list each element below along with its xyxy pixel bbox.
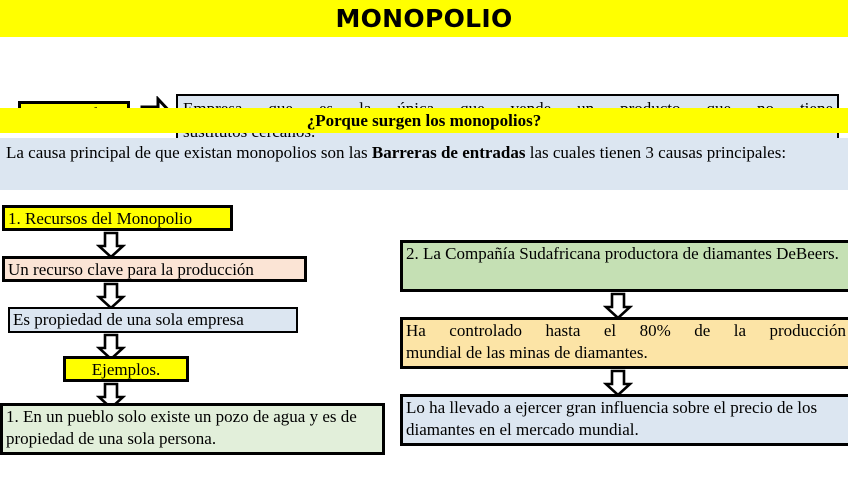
intro-text-after: las cuales tienen 3 causas principales:: [526, 143, 787, 162]
down-block-arrow-icon: [603, 292, 633, 320]
down-block-arrow-icon: [96, 231, 126, 259]
page-title: MONOPOLIO: [0, 0, 848, 37]
down-block-arrow-icon: [96, 282, 126, 310]
flow-node-recurso-clave: Un recurso clave para la producción: [2, 256, 307, 282]
intro-bold-term: Barreras de entradas: [372, 143, 526, 162]
intro-paragraph: La causa principal de que existan monopo…: [0, 138, 848, 190]
section-title-why-monopolies: ¿Porque surgen los monopolios?: [0, 108, 848, 133]
intro-text-before: La causa principal de que existan monopo…: [6, 143, 372, 162]
flow-node-control-produccion: Ha controlado hasta el 80% de la producc…: [400, 317, 848, 369]
flow-node-ejemplos: Ejemplos.: [63, 356, 189, 382]
down-block-arrow-icon: [603, 369, 633, 397]
control-line-2: mundial de las minas de diamantes.: [406, 343, 648, 362]
flow-node-debeers: 2. La Compañía Sudafricana productora de…: [400, 240, 848, 292]
definition-row: Monopolio Empresa que es la única que ve…: [0, 44, 848, 102]
flow-node-influencia-precio: Lo ha llevado a ejercer gran influencia …: [400, 394, 848, 446]
flow-node-propiedad-una-sola-empresa: Es propiedad de una sola empresa: [8, 307, 298, 333]
flow-node-ejemplo-pozo-de-agua: 1. En un pueblo solo existe un pozo de a…: [0, 403, 385, 455]
flow-node-recursos-del-monopolio: 1. Recursos del Monopolio: [2, 205, 233, 231]
control-line-1: Ha controlado hasta el 80% de la producc…: [406, 320, 846, 342]
